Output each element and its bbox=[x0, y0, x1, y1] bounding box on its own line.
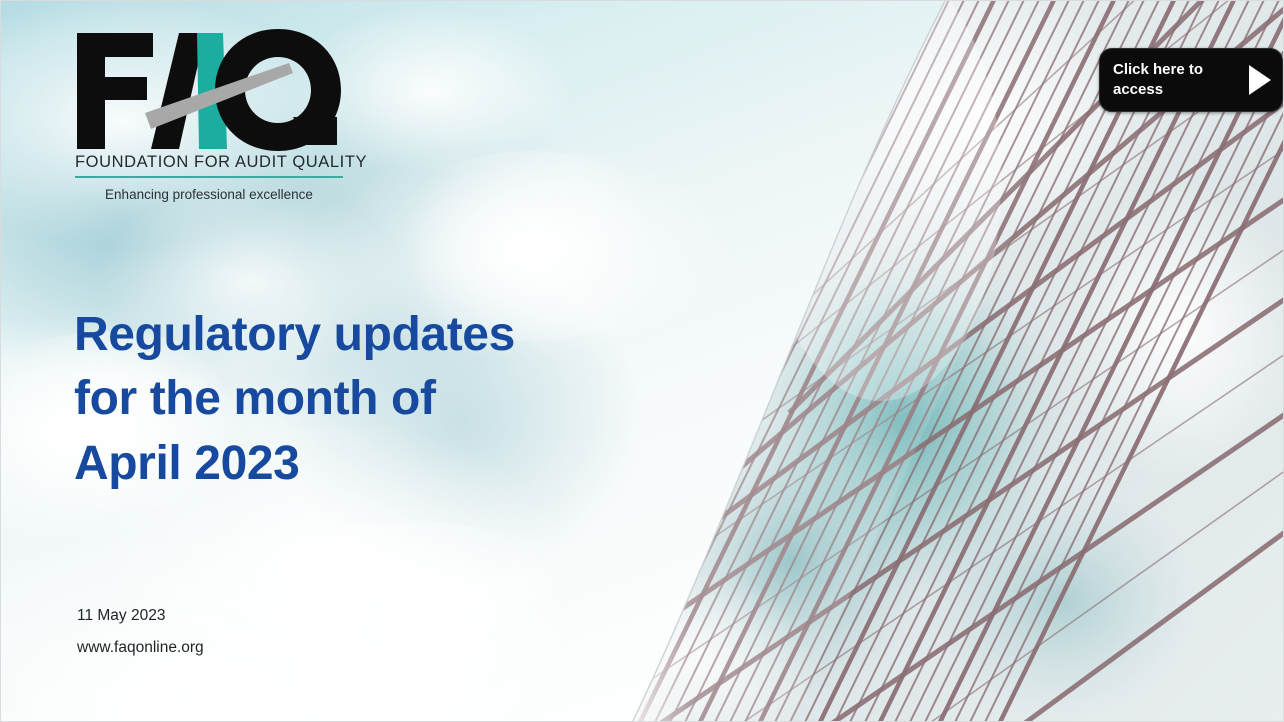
website-url[interactable]: www.faqonline.org bbox=[77, 639, 204, 657]
click-here-to-access-button[interactable]: Click here to access bbox=[1099, 48, 1283, 112]
page-title: Regulatory updates for the month of Apri… bbox=[74, 303, 654, 496]
slide-footer: 11 May 2023 www.faqonline.org bbox=[77, 607, 204, 657]
logo-tagline: Enhancing professional excellence bbox=[75, 187, 343, 202]
logo-divider-rule bbox=[75, 176, 343, 178]
presentation-slide: FOUNDATION FOR AUDIT QUALITY Enhancing p… bbox=[0, 0, 1284, 722]
faq-logo: FOUNDATION FOR AUDIT QUALITY Enhancing p… bbox=[75, 29, 347, 202]
logo-organisation-name: FOUNDATION FOR AUDIT QUALITY bbox=[75, 153, 347, 172]
play-triangle-icon bbox=[1238, 63, 1282, 97]
presentation-date: 11 May 2023 bbox=[77, 607, 204, 625]
cta-label: Click here to access bbox=[1100, 60, 1238, 100]
faq-logo-mark bbox=[75, 29, 343, 151]
